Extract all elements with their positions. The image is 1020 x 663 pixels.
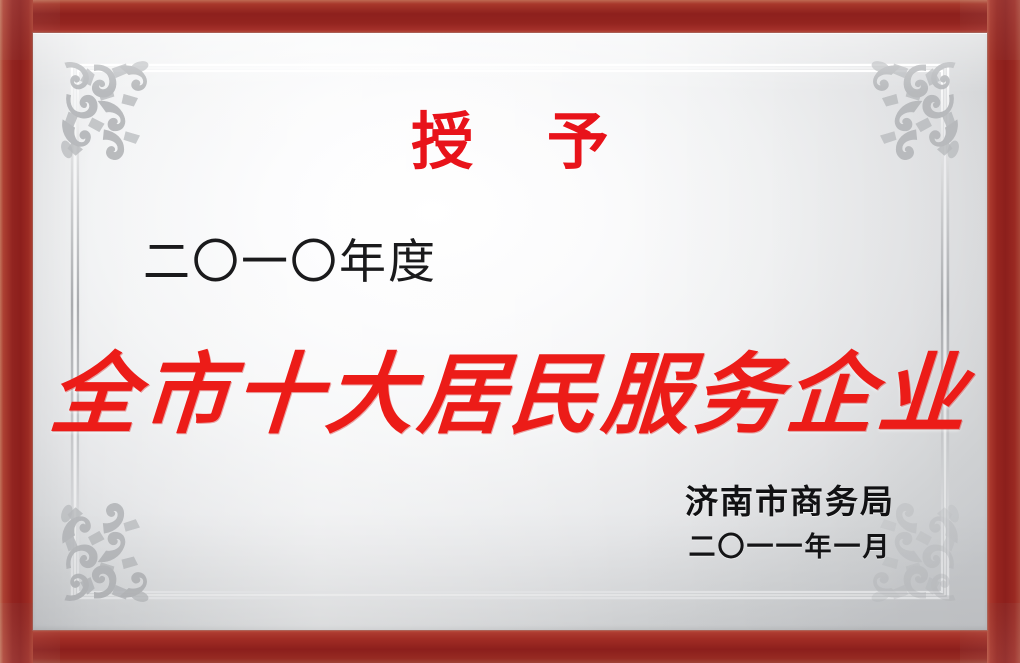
award-plaque: 授 予 二〇一〇年度 全市十大居民服务企业 济南市商务局 二〇一一年一月 bbox=[0, 0, 1020, 663]
plaque-inscription: 授 予 二〇一〇年度 全市十大居民服务企业 济南市商务局 二〇一一年一月 bbox=[33, 33, 987, 630]
frame-rail-right bbox=[987, 0, 1020, 663]
issuer-name-text: 济南市商务局 bbox=[685, 481, 895, 522]
frame-rail-top bbox=[0, 0, 1020, 33]
issuer-block: 济南市商务局 二〇一一年一月 bbox=[685, 481, 895, 565]
award-title-text: 全市十大居民服务企业 bbox=[33, 345, 987, 444]
frame-rail-bottom bbox=[0, 630, 1020, 663]
award-verb-text: 授 予 bbox=[33, 111, 987, 173]
frame-rail-left bbox=[0, 0, 33, 663]
plaque-plate: 授 予 二〇一〇年度 全市十大居民服务企业 济南市商务局 二〇一一年一月 bbox=[33, 33, 987, 630]
award-year-text: 二〇一〇年度 bbox=[143, 239, 437, 286]
issuer-date-text: 二〇一一年一月 bbox=[685, 531, 895, 565]
